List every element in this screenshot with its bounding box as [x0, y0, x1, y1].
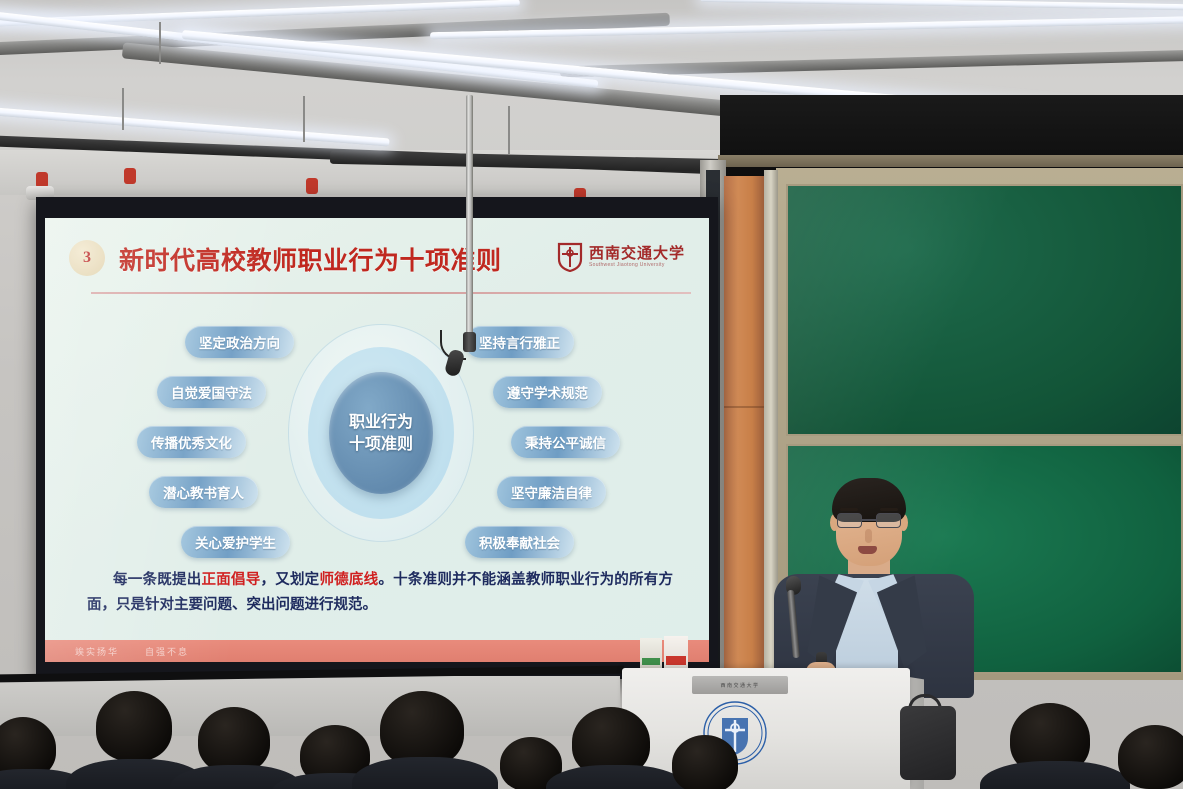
- hanging-mic-joint: [463, 332, 476, 352]
- audience-shoulder: [546, 765, 686, 789]
- presentation-slide: 3 新时代高校教师职业行为十项准则 西南交通大学: [45, 218, 709, 662]
- speaker-mouth: [858, 546, 877, 554]
- projection-screen: 3 新时代高校教师职业行为十项准则 西南交通大学: [36, 197, 718, 679]
- desk-box-red: [664, 636, 688, 668]
- title-divider: [91, 292, 691, 294]
- light-hanger: [159, 22, 161, 64]
- screen-surface: 3 新时代高校教师职业行为十项准则 西南交通大学: [45, 218, 709, 662]
- wooden-pillar: [724, 176, 764, 676]
- right-pill-1[interactable]: 坚持言行雅正: [465, 326, 574, 358]
- hanging-mic-pole: [466, 95, 473, 345]
- slide-note: 每一条既提出正面倡导，又划定师德底线。十条准则并不能涵盖教师职业行为的所有方面，…: [87, 568, 673, 617]
- slide-footer: 竢实扬华 自强不息: [45, 640, 709, 662]
- light-hanger: [303, 96, 305, 142]
- center-diagram: 职业行为 十项准则: [288, 324, 474, 542]
- left-pill-2[interactable]: 自觉爱国守法: [157, 376, 266, 408]
- light-hanger: [508, 106, 510, 154]
- section-number: 3: [83, 249, 91, 267]
- audience-head: [96, 691, 172, 761]
- center-line-2: 十项准则: [349, 433, 413, 455]
- blackboard-top-rail: [718, 155, 1183, 167]
- speaker-person: [770, 466, 980, 696]
- left-pill-4[interactable]: 潜心教书育人: [149, 476, 258, 508]
- right-pill-5[interactable]: 积极奉献社会: [465, 526, 574, 558]
- note-seg-1: 每一条既提出: [113, 572, 201, 588]
- slide-header: 3 新时代高校教师职业行为十项准则 西南交通大学: [67, 236, 691, 290]
- speaker-brow-left: [840, 508, 858, 511]
- footer-motto-left: 竢实扬华: [75, 645, 119, 658]
- desk-boxes: [640, 636, 690, 668]
- audience-head: [198, 707, 270, 773]
- center-line-1: 职业行为: [349, 411, 413, 433]
- audience: [0, 679, 1183, 789]
- note-highlight-2: 师德底线: [319, 572, 378, 588]
- university-name-cn: 西南交通大学: [589, 246, 685, 261]
- university-name-block: 西南交通大学 Southwest Jiaotong University: [589, 246, 685, 268]
- university-name-en: Southwest Jiaotong University: [589, 263, 685, 268]
- footer-motto-right: 自强不息: [145, 645, 189, 658]
- university-logo: 西南交通大学 Southwest Jiaotong University: [557, 242, 685, 272]
- speaker-brow-right: [880, 508, 898, 511]
- pipe-clamp: [306, 178, 318, 194]
- desk-box-green: [640, 638, 662, 668]
- center-circle: 职业行为 十项准则: [329, 372, 433, 494]
- shield-crest-icon: [557, 242, 583, 272]
- right-pill-2[interactable]: 遵守学术规范: [493, 376, 602, 408]
- left-pill-3[interactable]: 传播优秀文化: [137, 426, 246, 458]
- left-pill-1[interactable]: 坚定政治方向: [185, 326, 294, 358]
- light-hanger: [122, 88, 124, 130]
- blackboard-upper: [786, 184, 1183, 436]
- pipe-clamp: [124, 168, 136, 184]
- audience-head: [380, 691, 464, 767]
- speaker-nose: [865, 529, 872, 543]
- audience-head: [672, 735, 738, 789]
- right-pill-3[interactable]: 秉持公平诚信: [511, 426, 620, 458]
- eyeglasses-icon: [836, 513, 902, 529]
- note-seg-2: ，又划定: [260, 572, 319, 588]
- audience-shoulder: [352, 757, 498, 789]
- slide-title: 新时代高校教师职业行为十项准则: [119, 241, 502, 277]
- note-highlight-1: 正面倡导: [201, 572, 260, 588]
- audience-shoulder: [980, 761, 1130, 789]
- right-pill-4[interactable]: 坚守廉洁自律: [497, 476, 606, 508]
- audience-head: [1118, 725, 1183, 789]
- section-number-badge: 3: [69, 240, 105, 276]
- lecture-hall-scene: 3 新时代高校教师职业行为十项准则 西南交通大学: [0, 0, 1183, 789]
- left-pill-5[interactable]: 关心爱护学生: [181, 526, 290, 558]
